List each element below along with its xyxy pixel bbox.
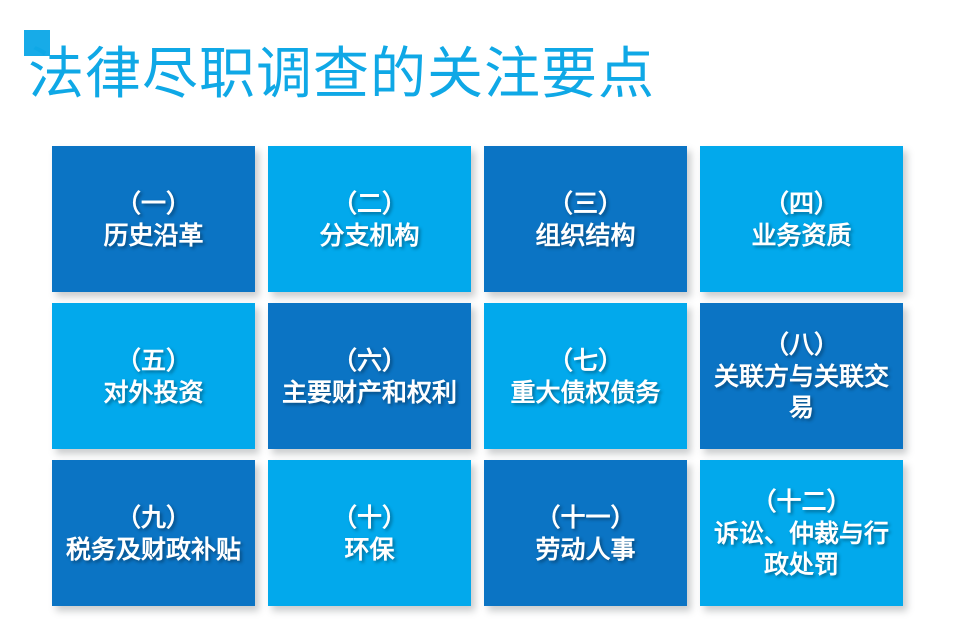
topic-card-12[interactable]: （十二） 诉讼、仲裁与行政处罚 — [700, 460, 903, 606]
topic-card-number: （四） — [764, 188, 839, 220]
topic-card-number: （十二） — [751, 486, 851, 518]
topic-card-label: 业务资质 — [751, 220, 851, 251]
topic-card-label: 税务及财政补贴 — [66, 534, 241, 565]
topic-card-label: 组织结构 — [535, 220, 635, 251]
topic-card-number: （一） — [116, 188, 191, 220]
slide-title-area: 法律尽职调查的关注要点 — [0, 0, 954, 138]
topic-card-3[interactable]: （三） 组织结构 — [484, 146, 687, 292]
topic-card-grid: （一） 历史沿革 （二） 分支机构 （三） 组织结构 （四） 业务资质 （五） … — [52, 146, 902, 606]
topic-card-number: （七） — [548, 345, 623, 377]
topic-card-number: （三） — [548, 188, 623, 220]
topic-card-label: 诉讼、仲裁与行政处罚 — [709, 518, 895, 580]
topic-card-number: （五） — [116, 345, 191, 377]
topic-card-9[interactable]: （九） 税务及财政补贴 — [52, 460, 255, 606]
topic-card-label: 分支机构 — [319, 220, 419, 251]
topic-card-6[interactable]: （六） 主要财产和权利 — [268, 303, 471, 449]
topic-card-7[interactable]: （七） 重大债权债务 — [484, 303, 687, 449]
topic-card-label: 环保 — [344, 534, 394, 565]
topic-card-8[interactable]: （八） 关联方与关联交易 — [700, 303, 903, 449]
topic-card-11[interactable]: （十一） 劳动人事 — [484, 460, 687, 606]
topic-card-number: （六） — [332, 345, 407, 377]
topic-card-number: （十） — [332, 502, 407, 534]
topic-card-number: （十一） — [535, 502, 635, 534]
topic-card-label: 劳动人事 — [535, 534, 635, 565]
topic-card-1[interactable]: （一） 历史沿革 — [52, 146, 255, 292]
topic-card-label: 主要财产和权利 — [282, 377, 457, 408]
topic-card-2[interactable]: （二） 分支机构 — [268, 146, 471, 292]
topic-card-number: （八） — [764, 329, 839, 361]
topic-card-number: （二） — [332, 188, 407, 220]
topic-card-label: 历史沿革 — [103, 220, 203, 251]
topic-card-number: （九） — [116, 502, 191, 534]
topic-card-label: 关联方与关联交易 — [709, 361, 895, 423]
topic-card-10[interactable]: （十） 环保 — [268, 460, 471, 606]
topic-card-4[interactable]: （四） 业务资质 — [700, 146, 903, 292]
topic-card-label: 对外投资 — [103, 377, 203, 408]
topic-card-label: 重大债权债务 — [510, 377, 660, 408]
topic-card-5[interactable]: （五） 对外投资 — [52, 303, 255, 449]
page-title: 法律尽职调查的关注要点 — [28, 44, 655, 106]
